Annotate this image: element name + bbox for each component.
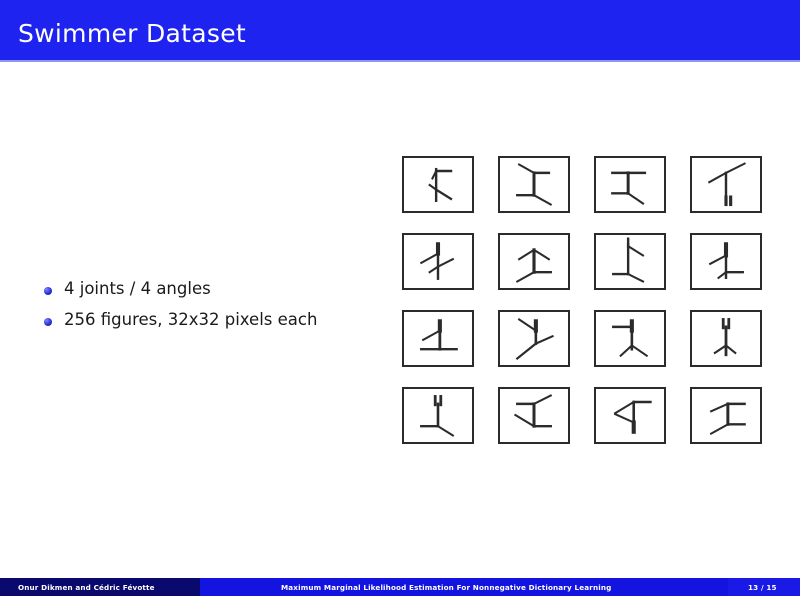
swimmer-stick-figure-icon — [404, 312, 472, 365]
swimmer-stick-figure-icon — [404, 389, 472, 442]
swimmer-stick-figure-icon — [404, 158, 472, 211]
slide-footer: Onur Dikmen and Cédric Févotte Maximum M… — [0, 578, 800, 596]
swimmer-stick-figure-icon — [596, 235, 664, 288]
swimmer-stick-figure-icon — [596, 312, 664, 365]
swimmer-figure-r3c1 — [402, 310, 474, 367]
swimmer-stick-figure-icon — [500, 389, 568, 442]
slide-title-bar: Swimmer Dataset — [0, 0, 800, 60]
footer-presentation-title: Maximum Marginal Likelihood Estimation F… — [281, 583, 611, 592]
bullet-point-icon — [44, 318, 52, 326]
bullet-item-label: 4 joints / 4 angles — [64, 279, 211, 298]
swimmer-stick-figure-icon — [692, 158, 760, 211]
swimmer-stick-figure-icon — [596, 158, 664, 211]
swimmer-stick-figure-icon — [500, 312, 568, 365]
list-item: 256 figures, 32x32 pixels each — [42, 309, 372, 340]
title-underline-rule — [0, 60, 800, 62]
swimmer-figure-r4c4 — [690, 387, 762, 444]
swimmer-figure-r3c2 — [498, 310, 570, 367]
swimmer-stick-figure-icon — [500, 235, 568, 288]
bullet-item-label: 256 figures, 32x32 pixels each — [64, 310, 317, 329]
swimmer-stick-figure-icon — [692, 312, 760, 365]
swimmer-stick-figure-icon — [596, 389, 664, 442]
swimmer-figure-r4c3 — [594, 387, 666, 444]
footer-page-number: 13 / 15 — [748, 583, 777, 592]
swimmer-figure-r3c3 — [594, 310, 666, 367]
bullet-point-icon — [44, 287, 52, 295]
footer-authors-label: Onur Dikmen and Cédric Févotte — [18, 583, 155, 592]
bullet-list: 4 joints / 4 angles 256 figures, 32x32 p… — [42, 278, 372, 340]
swimmer-figure-r1c2 — [498, 156, 570, 213]
swimmer-figure-r2c3 — [594, 233, 666, 290]
swimmer-figure-r1c3 — [594, 156, 666, 213]
swimmer-figure-grid — [402, 156, 766, 446]
swimmer-stick-figure-icon — [692, 389, 760, 442]
swimmer-figure-r1c4 — [690, 156, 762, 213]
swimmer-stick-figure-icon — [692, 235, 760, 288]
swimmer-figure-r2c4 — [690, 233, 762, 290]
swimmer-figure-r1c1 — [402, 156, 474, 213]
swimmer-stick-figure-icon — [500, 158, 568, 211]
swimmer-figure-r4c2 — [498, 387, 570, 444]
swimmer-figure-r2c1 — [402, 233, 474, 290]
list-item: 4 joints / 4 angles — [42, 278, 372, 309]
swimmer-figure-r4c1 — [402, 387, 474, 444]
page-title: Swimmer Dataset — [18, 19, 246, 48]
swimmer-stick-figure-icon — [404, 235, 472, 288]
swimmer-figure-r3c4 — [690, 310, 762, 367]
swimmer-figure-r2c2 — [498, 233, 570, 290]
